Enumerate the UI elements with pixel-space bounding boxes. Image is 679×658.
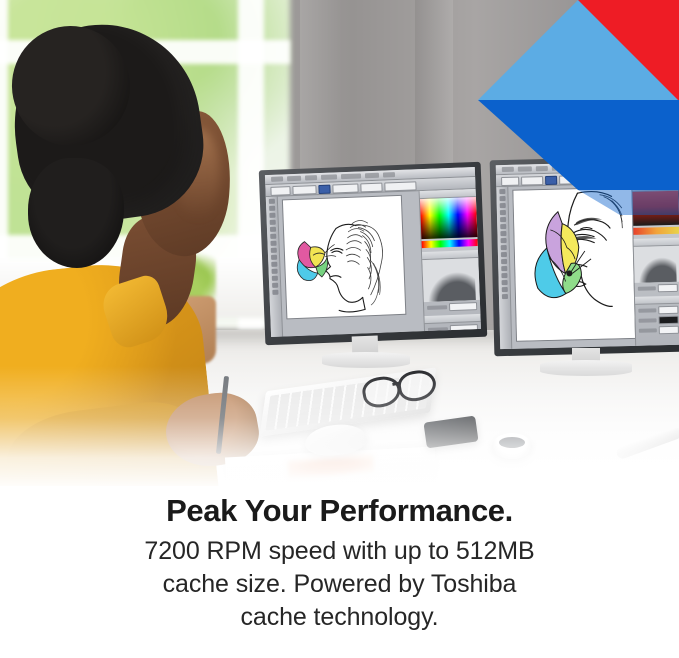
- app-panels-right[interactable]: [631, 183, 679, 346]
- monitor-right-screen[interactable]: [496, 161, 679, 349]
- hero-photo: [0, 0, 679, 490]
- effects-controls-right[interactable]: [635, 304, 679, 339]
- photo-bottom-fade: [0, 366, 679, 490]
- histogram-graph: [422, 258, 480, 302]
- monitor-left[interactable]: [259, 162, 488, 345]
- subline: 7200 RPM speed with up to 512MB cache si…: [75, 535, 605, 634]
- app-toolbox-right[interactable]: [496, 187, 512, 349]
- histogram-controls-right[interactable]: [635, 282, 679, 297]
- monitor-left-screen[interactable]: [265, 167, 481, 337]
- color-hue-strip-right[interactable]: [633, 227, 679, 235]
- canvas-left[interactable]: [283, 196, 405, 318]
- app-panels-left[interactable]: [419, 189, 481, 331]
- canvas-right[interactable]: [513, 188, 635, 341]
- photo-editing-app-right: [496, 161, 679, 349]
- color-picker-gradient-right[interactable]: [632, 191, 679, 226]
- photo-editing-app-left: [265, 167, 481, 337]
- artwork-line-portrait: [283, 196, 405, 318]
- color-hue-strip[interactable]: [422, 239, 478, 248]
- color-picker-gradient[interactable]: [420, 197, 477, 239]
- artwork-zoomed-face: [513, 188, 635, 341]
- monitor-right[interactable]: [490, 156, 679, 357]
- subline-line-1: 7200 RPM speed with up to 512MB: [144, 537, 534, 565]
- hair-nape: [28, 158, 124, 268]
- headline: Peak Your Performance.: [0, 486, 679, 529]
- subline-line-2: cache size. Powered by Toshiba: [163, 570, 517, 598]
- histogram-graph-right: [634, 246, 679, 283]
- product-ad-card: Peak Your Performance. 7200 RPM speed wi…: [0, 0, 679, 658]
- subline-line-3: cache technology.: [241, 603, 439, 631]
- caption-block: Peak Your Performance. 7200 RPM speed wi…: [0, 486, 679, 658]
